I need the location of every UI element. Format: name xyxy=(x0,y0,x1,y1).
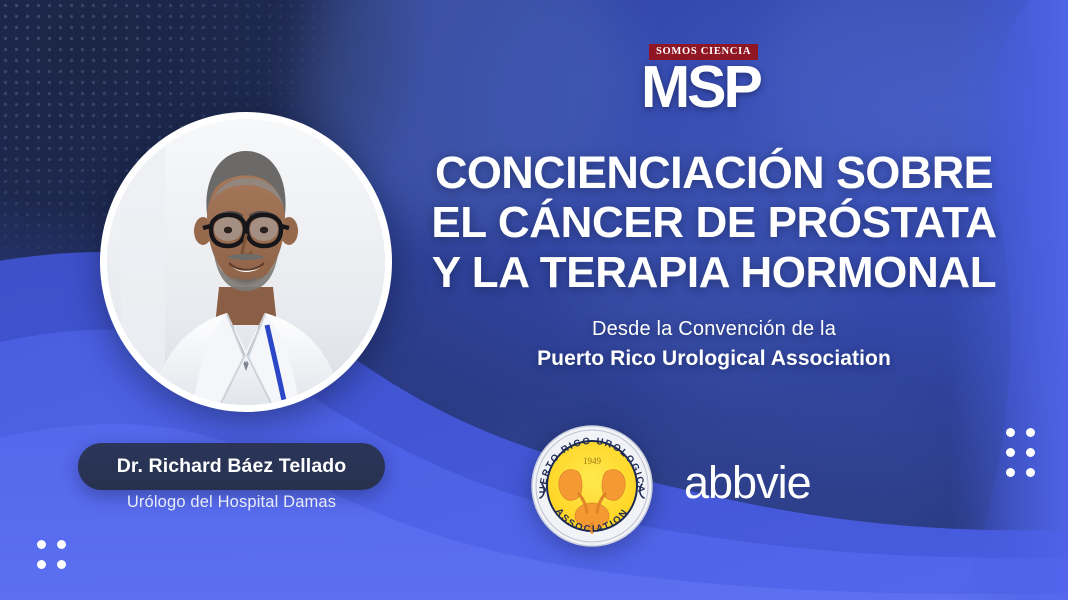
dot xyxy=(1026,468,1035,477)
page-title: CONCIENCIACIÓN SOBRE EL CÁNCER DE PRÓSTA… xyxy=(390,150,1038,295)
title-line-3: Y LA TERAPIA HORMONAL xyxy=(390,250,1038,295)
speaker-portrait-image xyxy=(107,119,385,405)
dot-cluster-left xyxy=(37,540,66,569)
dot xyxy=(1006,468,1015,477)
msp-wordmark: MSP xyxy=(641,58,760,117)
msp-logo[interactable]: SOMOS CIENCIA MSP xyxy=(641,44,801,122)
doctor-illustration xyxy=(107,119,385,405)
speaker-name: Dr. Richard Báez Tellado xyxy=(117,455,347,478)
dot xyxy=(37,540,46,549)
subtitle-line-2: Puerto Rico Urological Association xyxy=(390,345,1038,372)
dot xyxy=(1006,448,1015,457)
dot xyxy=(57,560,66,569)
dot xyxy=(1026,448,1035,457)
dot xyxy=(57,540,66,549)
promo-card: Dr. Richard Báez Tellado Urólogo del Hos… xyxy=(0,0,1068,600)
speaker-role: Urólogo del Hospital Damas xyxy=(78,493,385,512)
speaker-name-plate: Dr. Richard Báez Tellado xyxy=(78,443,385,490)
abbvie-wordmark: abbvie xyxy=(684,458,870,510)
dot xyxy=(1026,428,1035,437)
title-line-1: CONCIENCIACIÓN SOBRE xyxy=(390,150,1038,196)
dot xyxy=(1006,428,1015,437)
abbvie-text: abbvie xyxy=(684,458,811,508)
seal-year: 1949 xyxy=(583,456,602,466)
subtitle: Desde la Convención de la Puerto Rico Ur… xyxy=(390,316,1038,372)
subtitle-line-1: Desde la Convención de la xyxy=(390,316,1038,342)
dot-cluster-right xyxy=(1006,428,1035,477)
title-line-2: EL CÁNCER DE PRÓSTATA xyxy=(390,200,1038,245)
prua-seal-logo[interactable]: 1949 PUERTO RICO UROLOGICAL ASSOCIATION xyxy=(530,424,654,548)
speaker-portrait xyxy=(100,112,392,412)
dot xyxy=(37,560,46,569)
abbvie-logo[interactable]: abbvie xyxy=(684,458,870,510)
